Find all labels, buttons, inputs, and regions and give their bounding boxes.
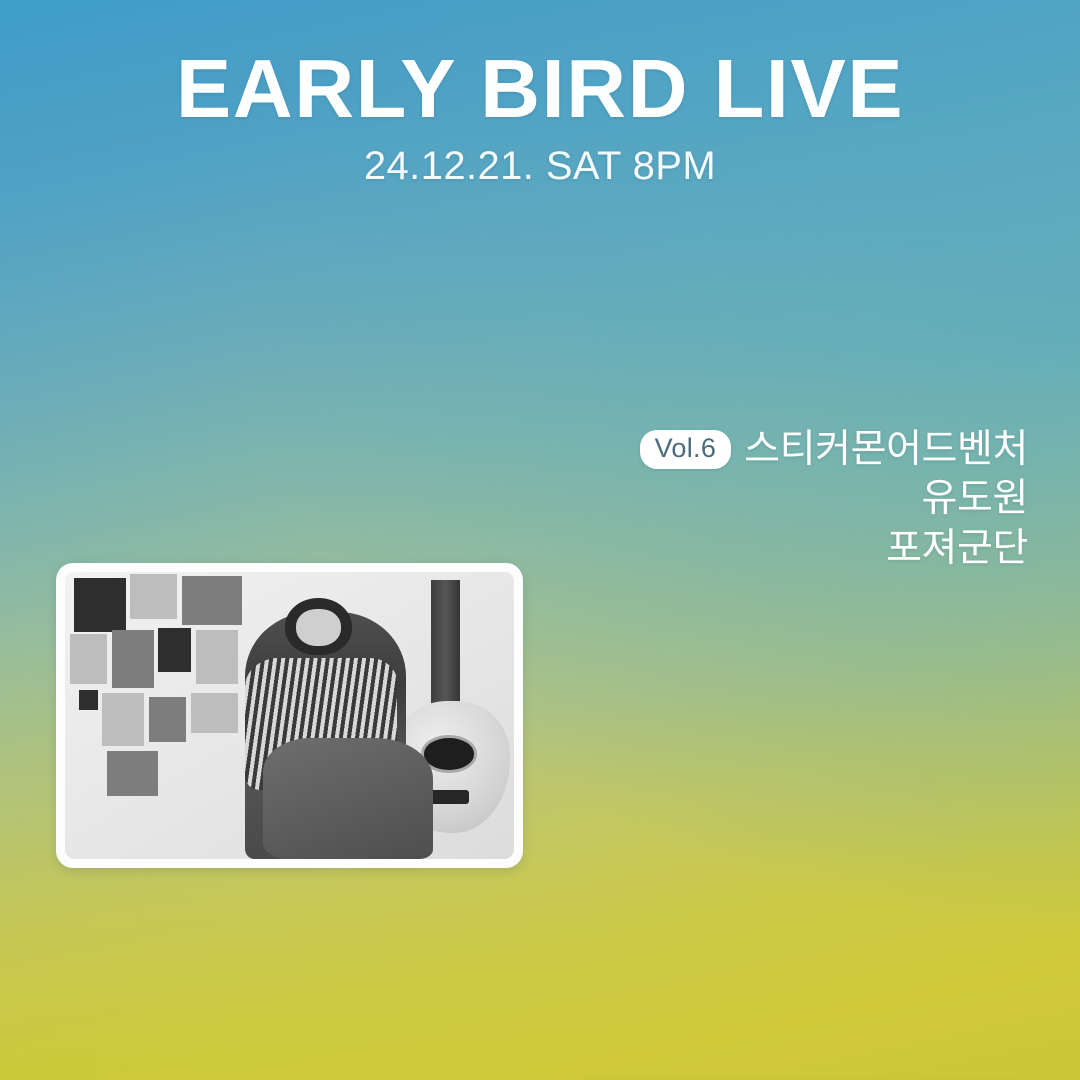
lineup-name-3: 포져군단: [886, 524, 1028, 573]
lineup-block: Vol.6 스티커몬어드벤처 유도원 포져군단: [0, 425, 1028, 572]
lineup-name-1: 스티커몬어드벤처: [744, 425, 1028, 474]
lineup-first-row: Vol.6 스티커몬어드벤처: [640, 425, 1028, 474]
poster-header: EARLY BIRD LIVE 24.12.21. SAT 8PM: [0, 0, 1080, 189]
artist-photo-card-dowon: [56, 563, 523, 868]
lineup-name-2: 유도원: [922, 474, 1028, 523]
poster-root: EARLY BIRD LIVE 24.12.21. SAT 8PM Vol.6 …: [0, 0, 1080, 1080]
volume-badge: Vol.6: [640, 430, 732, 469]
artist-photo-dowon: [65, 572, 514, 859]
event-date: 24.12.21. SAT 8PM: [0, 144, 1080, 189]
page-title: EARLY BIRD LIVE: [0, 46, 1080, 132]
